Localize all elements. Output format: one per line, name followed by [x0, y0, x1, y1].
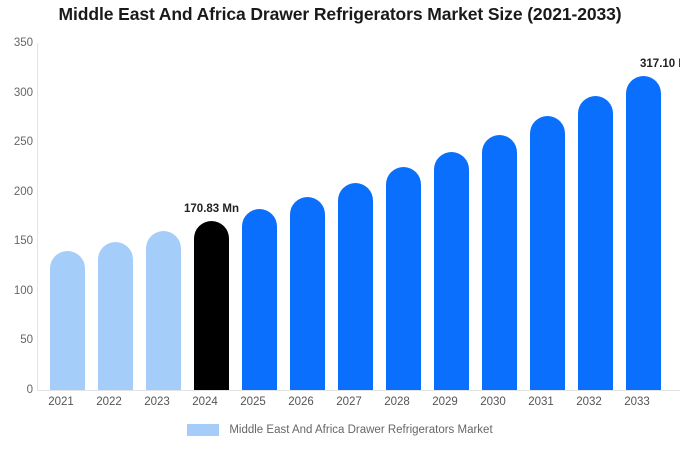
bar-2031[interactable] [530, 116, 565, 390]
bar-slot [476, 43, 524, 390]
bar-2021[interactable] [50, 251, 85, 390]
bar-2022[interactable] [98, 242, 133, 390]
y-axis-tick-label: 300 [0, 87, 33, 99]
bar-2028[interactable] [386, 167, 421, 390]
legend-item[interactable]: Middle East And Africa Drawer Refrigerat… [187, 424, 492, 436]
x-axis-line [37, 390, 680, 391]
bar-slot [284, 43, 332, 390]
chart-legend: Middle East And Africa Drawer Refrigerat… [0, 424, 680, 436]
y-axis-tick-label: 50 [0, 334, 33, 346]
x-axis-tick-label: 2022 [85, 396, 133, 408]
bar-slot [92, 43, 140, 390]
y-axis-tick-label: 200 [0, 186, 33, 198]
x-axis-tick-label: 2033 [613, 396, 661, 408]
bars-layer: 170.83 Mn317.10 Mn [37, 43, 680, 390]
bar-2025[interactable] [242, 209, 277, 390]
x-axis-tick-label: 2032 [565, 396, 613, 408]
y-axis-tick-label: 250 [0, 136, 33, 148]
x-axis-tick-label: 2031 [517, 396, 565, 408]
y-axis-tick-label: 350 [0, 37, 33, 49]
bar-slot [332, 43, 380, 390]
bar-2026[interactable] [290, 197, 325, 390]
bar-2027[interactable] [338, 183, 373, 390]
bar-2032[interactable] [578, 96, 613, 390]
bar-2029[interactable] [434, 152, 469, 390]
bar-value-label: 317.10 Mn [640, 58, 680, 70]
bar-slot [572, 43, 620, 390]
x-axis-tick-label: 2030 [469, 396, 517, 408]
bar-slot [524, 43, 572, 390]
chart-container: Middle East And Africa Drawer Refrigerat… [0, 0, 680, 450]
x-axis-tick-label: 2025 [229, 396, 277, 408]
bar-slot: 317.10 Mn [620, 43, 668, 390]
x-axis-tick-label: 2026 [277, 396, 325, 408]
legend-swatch-icon [187, 424, 219, 436]
x-axis-tick-label: 2021 [37, 396, 85, 408]
y-axis-tick-label: 150 [0, 235, 33, 247]
bar-2024[interactable]: 170.83 Mn [194, 221, 229, 390]
bar-slot [428, 43, 476, 390]
bar-slot: 170.83 Mn [188, 43, 236, 390]
chart-title: Middle East And Africa Drawer Refrigerat… [0, 4, 680, 25]
bar-slot [140, 43, 188, 390]
bar-slot [236, 43, 284, 390]
bar-2030[interactable] [482, 135, 517, 390]
y-axis-tick-label: 0 [0, 384, 33, 396]
bar-2023[interactable] [146, 231, 181, 390]
x-axis-tick-label: 2028 [373, 396, 421, 408]
bar-2033[interactable]: 317.10 Mn [626, 76, 661, 390]
bar-slot [380, 43, 428, 390]
legend-label: Middle East And Africa Drawer Refrigerat… [229, 424, 492, 436]
x-axis-tick-label: 2024 [181, 396, 229, 408]
y-axis-tick-label: 100 [0, 285, 33, 297]
bar-slot [44, 43, 92, 390]
x-axis-tick-label: 2023 [133, 396, 181, 408]
x-axis-tick-label: 2029 [421, 396, 469, 408]
y-axis-tick-labels: 050100150200250300350 [0, 0, 33, 450]
x-axis-tick-label: 2027 [325, 396, 373, 408]
bar-value-label: 170.83 Mn [184, 203, 239, 215]
x-axis-tick-labels: 2021202220232024202520262027202820292030… [37, 396, 680, 416]
